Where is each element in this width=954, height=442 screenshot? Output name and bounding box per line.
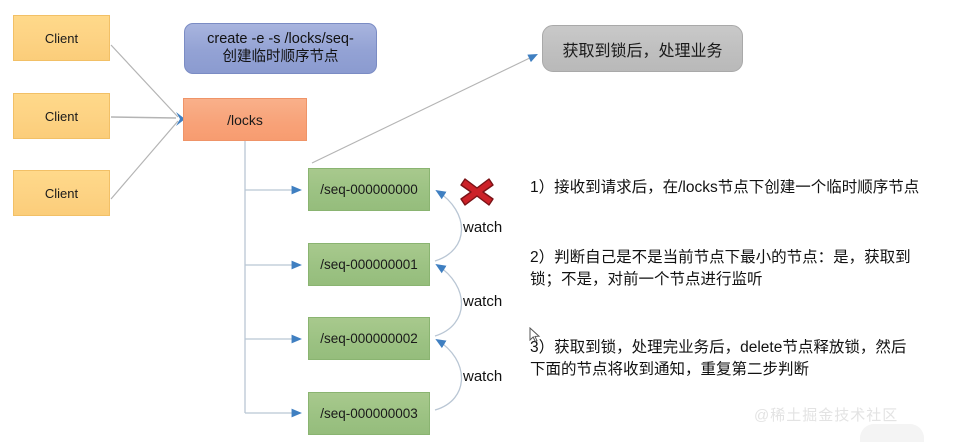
diagram-canvas: Client Client Client create -e -s /locks… (0, 0, 954, 442)
red-cross-icon (458, 176, 496, 208)
watermark-text: @稀土掘金技术社区 (754, 404, 898, 425)
watch-label-1: watch (463, 219, 502, 236)
watermark-shape (860, 424, 924, 442)
create-command-box[interactable]: create -e -s /locks/seq- 创建临时顺序节点 (184, 23, 377, 74)
seq-node-label: /seq-000000003 (320, 406, 418, 421)
acquired-lock-label: 获取到锁后，处理业务 (562, 37, 722, 61)
acquired-lock-callout[interactable]: 获取到锁后，处理业务 (542, 25, 743, 72)
watch-label-2: watch (463, 293, 502, 310)
client-label: Client (45, 31, 78, 46)
seq-node-3[interactable]: /seq-000000003 (308, 392, 430, 435)
client-box-3[interactable]: Client (13, 170, 110, 216)
seq-node-label: /seq-000000000 (320, 182, 418, 197)
seq-node-label: /seq-000000002 (320, 331, 418, 346)
watch-label-3: watch (463, 368, 502, 385)
step-description-1: 1）接收到请求后，在/locks节点下创建一个临时顺序节点 (530, 177, 954, 199)
client-label: Client (45, 186, 78, 201)
create-command-line1: create -e -s /locks/seq- (207, 31, 354, 49)
client-label: Client (45, 109, 78, 124)
mouse-cursor-icon (529, 327, 541, 343)
seq-node-2[interactable]: /seq-000000002 (308, 317, 430, 360)
seq-node-label: /seq-000000001 (320, 257, 418, 272)
seq-node-1[interactable]: /seq-000000001 (308, 243, 430, 286)
client-box-2[interactable]: Client (13, 93, 110, 139)
step-description-3: 3）获取到锁，处理完业务后，delete节点释放锁，然后 下面的节点将收到通知，… (530, 337, 954, 382)
create-command-line2: 创建临时顺序节点 (223, 49, 339, 67)
step-description-2: 2）判断自己是不是当前节点下最小的节点：是，获取到 锁；不是，对前一个节点进行监… (530, 247, 954, 292)
locks-node-box[interactable]: /locks (183, 98, 307, 141)
seq-node-0[interactable]: /seq-000000000 (308, 168, 430, 211)
client-box-1[interactable]: Client (13, 15, 110, 61)
locks-node-label: /locks (227, 112, 263, 128)
